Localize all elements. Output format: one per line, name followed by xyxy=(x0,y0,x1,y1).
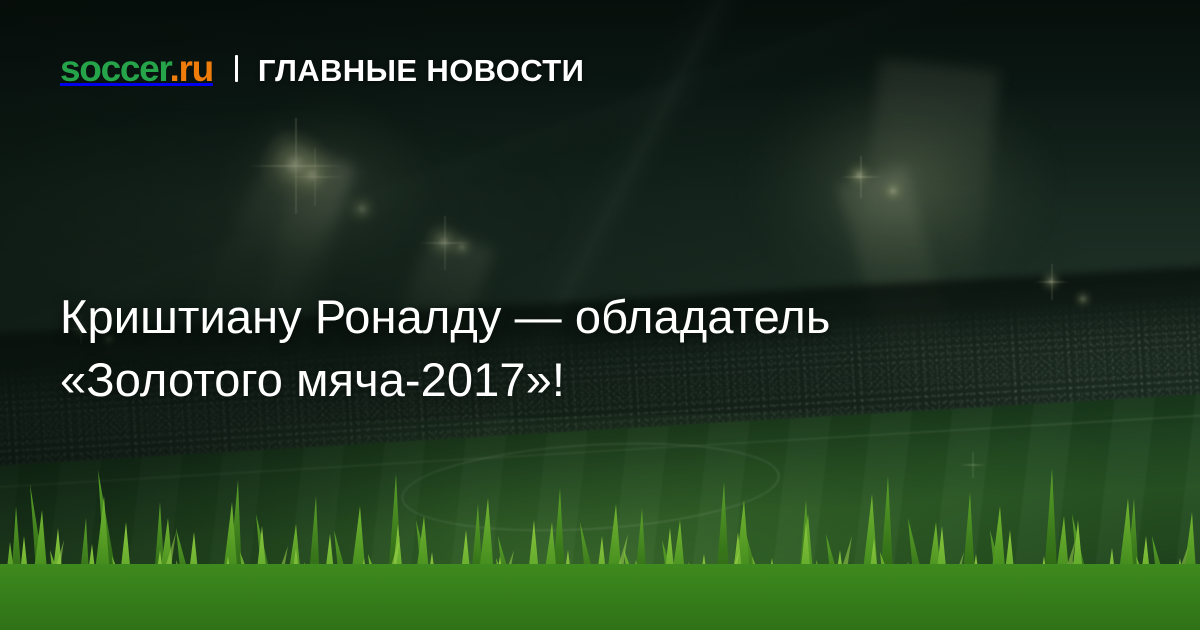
soccer-ru-logo[interactable]: soccer.ru xyxy=(60,50,213,87)
news-share-card: soccer.ru ГЛАВНЫЕ НОВОСТИ Криштиану Рона… xyxy=(0,0,1200,630)
headline-line-2: «Золотого мяча-2017»! xyxy=(60,349,1120,412)
logo-word-ru: .ru xyxy=(169,48,212,89)
headline-line-1: Криштиану Роналду — обладатель xyxy=(60,286,1120,349)
section-kicker: ГЛАВНЫЕ НОВОСТИ xyxy=(258,55,584,86)
header-separator-icon xyxy=(235,55,238,82)
page-title: Криштиану Роналду — обладатель «Золотого… xyxy=(60,286,1120,411)
logo-word-soccer: soccer xyxy=(60,48,169,89)
card-header: soccer.ru ГЛАВНЫЕ НОВОСТИ xyxy=(60,50,584,87)
